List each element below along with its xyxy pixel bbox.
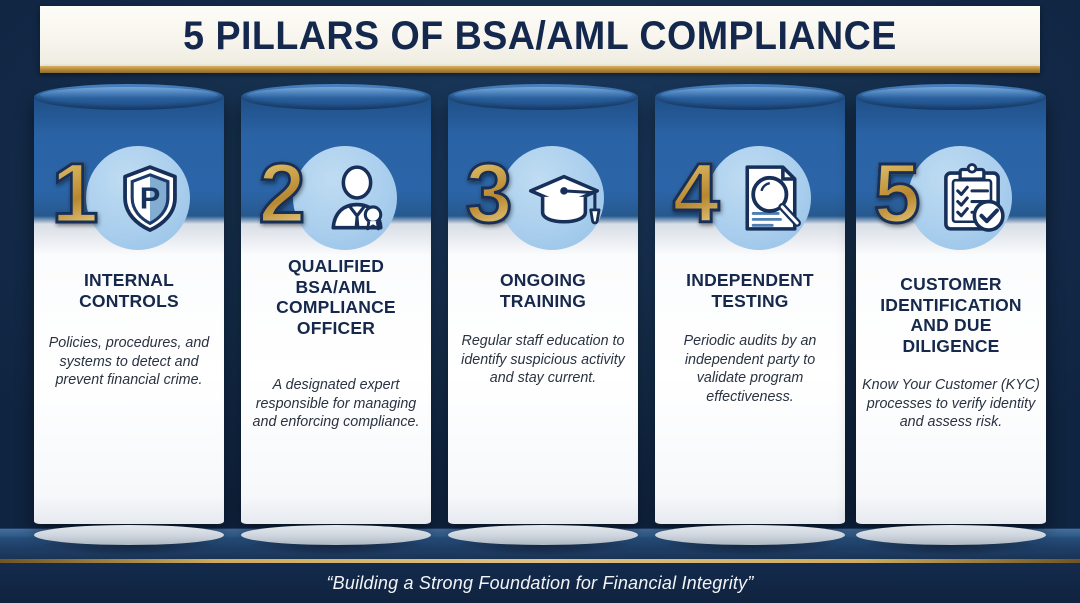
pillar-cap-highlight xyxy=(661,87,839,103)
pillar-base xyxy=(448,525,638,545)
pillar-cap xyxy=(448,84,638,110)
pillar-title: QUALIFIED BSA/AML COMPLIANCE OFFICER xyxy=(249,256,423,339)
pillar-cap-highlight xyxy=(454,87,632,103)
page-title: 5 PILLARS OF BSA/AML COMPLIANCE xyxy=(70,6,1010,66)
infographic-canvas: 5 PILLARS OF BSA/AML COMPLIANCE 1 P INTE… xyxy=(0,0,1080,603)
svg-text:P: P xyxy=(140,181,161,216)
pillar-icon-zone: 5 xyxy=(856,140,1046,250)
pillar-description: Regular staff education to identify susp… xyxy=(454,332,632,388)
pillar-card-5[interactable]: 5 CUSTOMER IDENTIFICATION AND DUE DILIGE… xyxy=(856,84,1046,536)
pillar-base xyxy=(655,525,845,545)
pillar-card-3[interactable]: 3 ONGOING TRAINING Regular staff educati… xyxy=(448,84,638,536)
pillar-base xyxy=(34,525,224,545)
pillar-number: 3 xyxy=(454,140,524,246)
pillar-description: Periodic audits by an independent party … xyxy=(661,332,839,406)
pillar-cap xyxy=(241,84,431,110)
pillar-icon-zone: 1 P xyxy=(34,140,224,250)
pillar-title: INDEPENDENT TESTING xyxy=(663,270,837,311)
pillar-title: ONGOING TRAINING xyxy=(456,270,630,311)
shield-p-icon: P xyxy=(112,160,188,236)
clipboard-check-icon xyxy=(934,160,1010,236)
pillar-title: CUSTOMER IDENTIFICATION AND DUE DILIGENC… xyxy=(864,274,1038,357)
pillar-base xyxy=(241,525,431,545)
pillar-cap xyxy=(856,84,1046,110)
pillar-cap-highlight xyxy=(247,87,425,103)
header-banner: 5 PILLARS OF BSA/AML COMPLIANCE xyxy=(40,6,1040,66)
pillar-cap xyxy=(34,84,224,110)
pillar-number: 5 xyxy=(862,140,932,246)
pillar-cap xyxy=(655,84,845,110)
pillar-number: 1 xyxy=(40,140,110,246)
pillar-description: Know Your Customer (KYC) processes to ve… xyxy=(862,376,1040,432)
pillar-card-4[interactable]: 4 INDEPENDENT TESTING Periodic audits by… xyxy=(655,84,845,536)
footer-banner: “Building a Strong Foundation for Financ… xyxy=(0,563,1080,603)
graduation-cap-icon xyxy=(526,160,602,236)
pillar-description: A designated expert responsible for mana… xyxy=(247,376,425,432)
document-magnifier-icon xyxy=(733,160,809,236)
pillar-card-1[interactable]: 1 P INTERNAL CONTROLS Policies, procedur… xyxy=(34,84,224,536)
compliance-officer-icon xyxy=(319,160,395,236)
pillar-base xyxy=(856,525,1046,545)
footer-tagline: “Building a Strong Foundation for Financ… xyxy=(326,573,753,594)
pillar-icon-zone: 2 xyxy=(241,140,431,250)
pillar-title: INTERNAL CONTROLS xyxy=(42,270,216,311)
pillar-description: Policies, procedures, and systems to det… xyxy=(40,334,218,390)
pillar-icon-zone: 3 xyxy=(448,140,638,250)
pillar-cap-highlight xyxy=(862,87,1040,103)
pillar-cap-highlight xyxy=(40,87,218,103)
pillar-number: 4 xyxy=(661,140,731,246)
pillar-number: 2 xyxy=(247,140,317,246)
pillar-icon-zone: 4 xyxy=(655,140,845,250)
header-gold-accent xyxy=(40,66,1040,73)
pillar-card-2[interactable]: 2 QUALIFIED BSA/AML COMPLIANCE OFFICER A… xyxy=(241,84,431,536)
